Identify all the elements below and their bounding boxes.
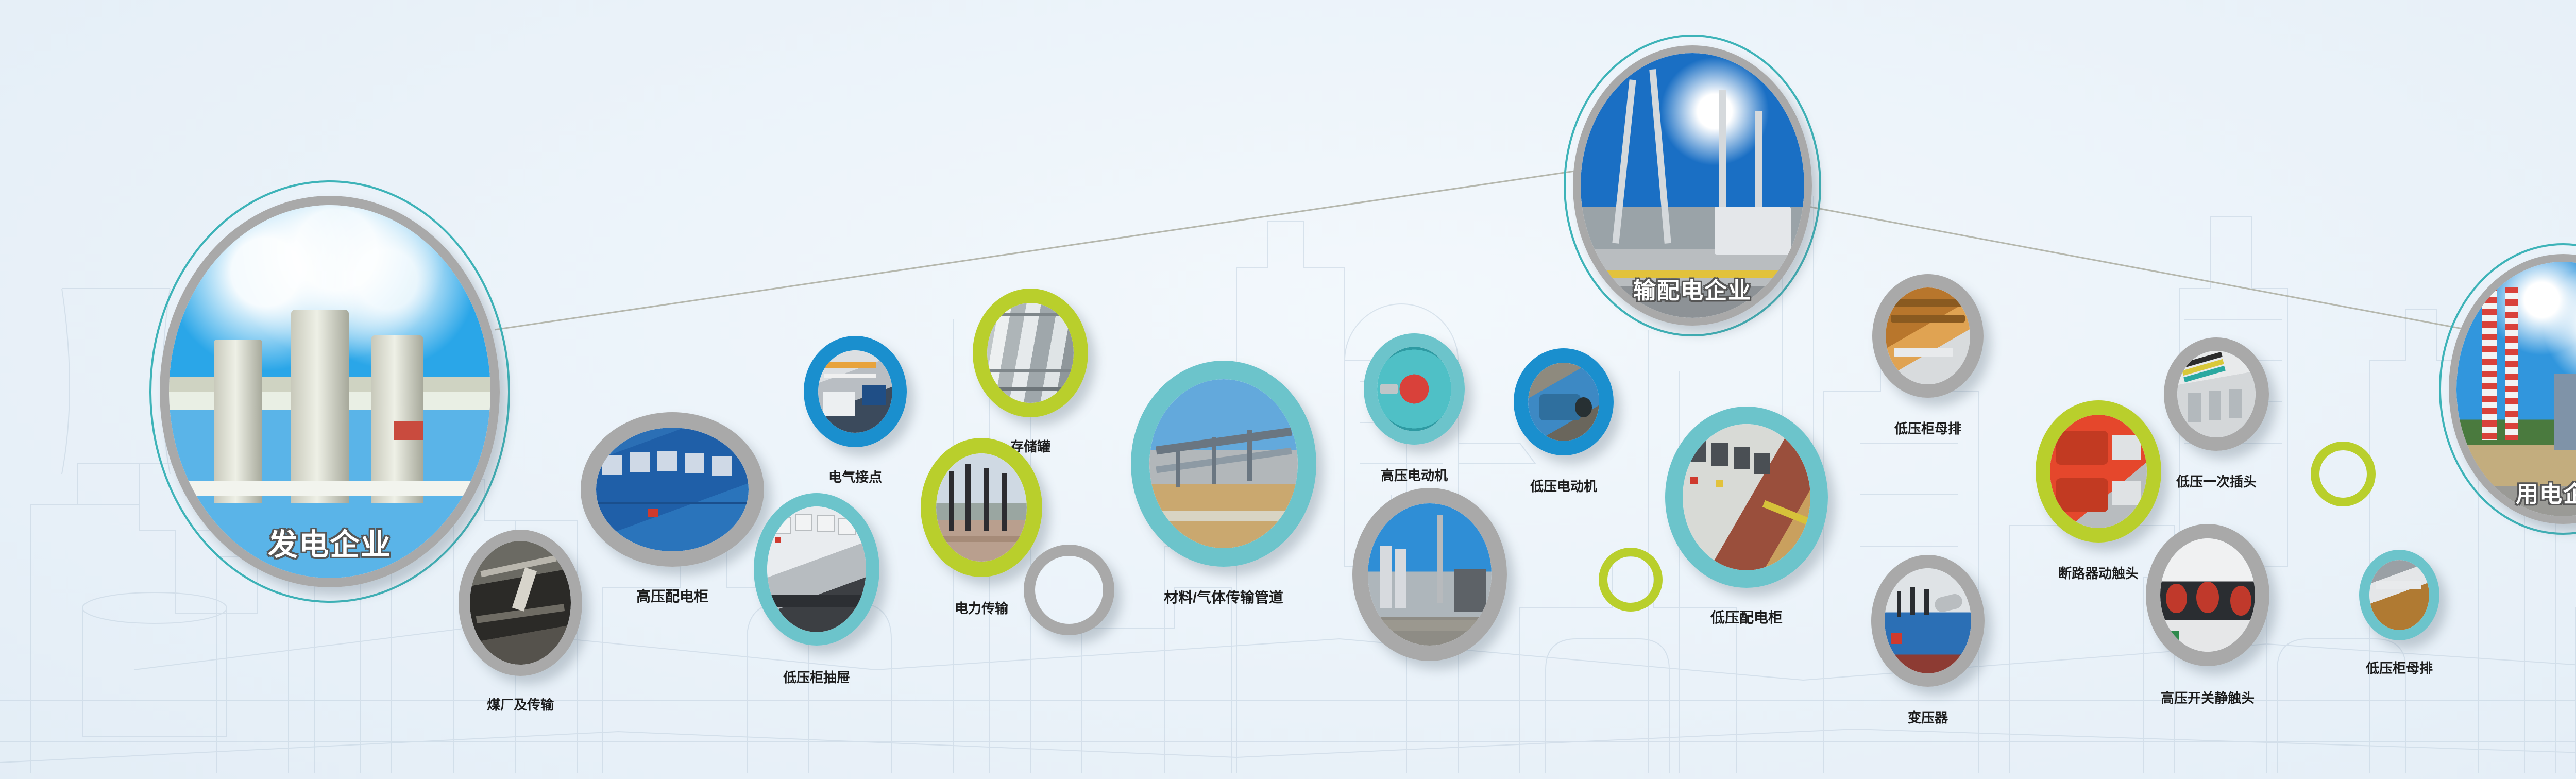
hero-label-transmission-distribution-enterprise: 输配电企业 [1633,272,1752,305]
decor-ring [1024,545,1114,635]
photo-blue-hv-switchgear [596,428,749,551]
hero-label-power-generation-enterprise: 发电企业 [268,520,392,564]
hero-node-power-consuming-enterprise[interactable]: 用电企业 [2424,229,2576,549]
node-label-hv-motor: 高压电动机 [1381,465,1448,484]
hero-node-transmission-distribution-enterprise[interactable]: 输配电企业 [1548,21,1837,350]
node-label-transformer: 变压器 [1908,707,1948,726]
photo-static-contact-bushings [2160,538,2255,652]
infographic-canvas: 发电企业 输配电企业 [0,0,2576,779]
decor-ring [2311,442,2376,506]
photo-hv-electric-motor [1377,347,1451,431]
photo-blue-lv-motor [1528,363,1599,441]
node-label-breaker-moving-contact: 断路器动触头 [2058,563,2139,582]
node-label-lv-cabinet-busbar-2: 低压柜母排 [2366,658,2433,677]
photo-lv-busbar-breakers [2369,560,2429,630]
node-label-lv-primary-plug: 低压一次插头 [2176,471,2257,490]
photo-lv-switchgear-room [1683,424,1810,570]
photo-lv-cabinet-drawer-unit [767,506,866,632]
photo-copper-busbar [1886,287,1970,384]
hero-label-power-consuming-enterprise: 用电企业 [2516,476,2576,509]
node-label-electrical-contact: 电气接点 [828,467,882,486]
node-label-lv-cabinet-busbar: 低压柜母排 [1894,418,1961,437]
node-label-lv-cabinet-drawer: 低压柜抽屉 [783,667,850,686]
photo-silver-storage-tanks [987,303,1074,403]
node-label-hv-distribution-cabinet: 高压配电柜 [636,585,708,606]
photo-plug-connectors [2177,351,2256,437]
node-label-coal-plant-and-transport: 煤厂及传输 [487,695,554,714]
node-label-hv-switch-static-contact: 高压开关静触头 [2161,688,2255,707]
photo-oil-transformer [1885,568,1971,673]
node-label-lv-distribution-cabinet: 低压配电柜 [1710,606,1783,627]
node-label-material-gas-pipeline: 材料/气体传输管道 [1164,586,1283,607]
decor-ring [1599,548,1663,612]
photo-process-plant-stack [1368,503,1492,646]
photo-coal-conveyor [470,541,571,665]
photo-red-breaker-contact [2050,415,2147,528]
photo-pipe-rack-corridor [1149,379,1298,548]
photo-hv-switchyard [936,453,1027,562]
hero-node-power-generation-enterprise[interactable]: 发电企业 [134,170,526,613]
node-label-power-transmission: 电力传输 [955,598,1008,617]
node-label-lv-motor: 低压电动机 [1530,476,1597,495]
photo-terminal-block-wiring [818,350,892,433]
